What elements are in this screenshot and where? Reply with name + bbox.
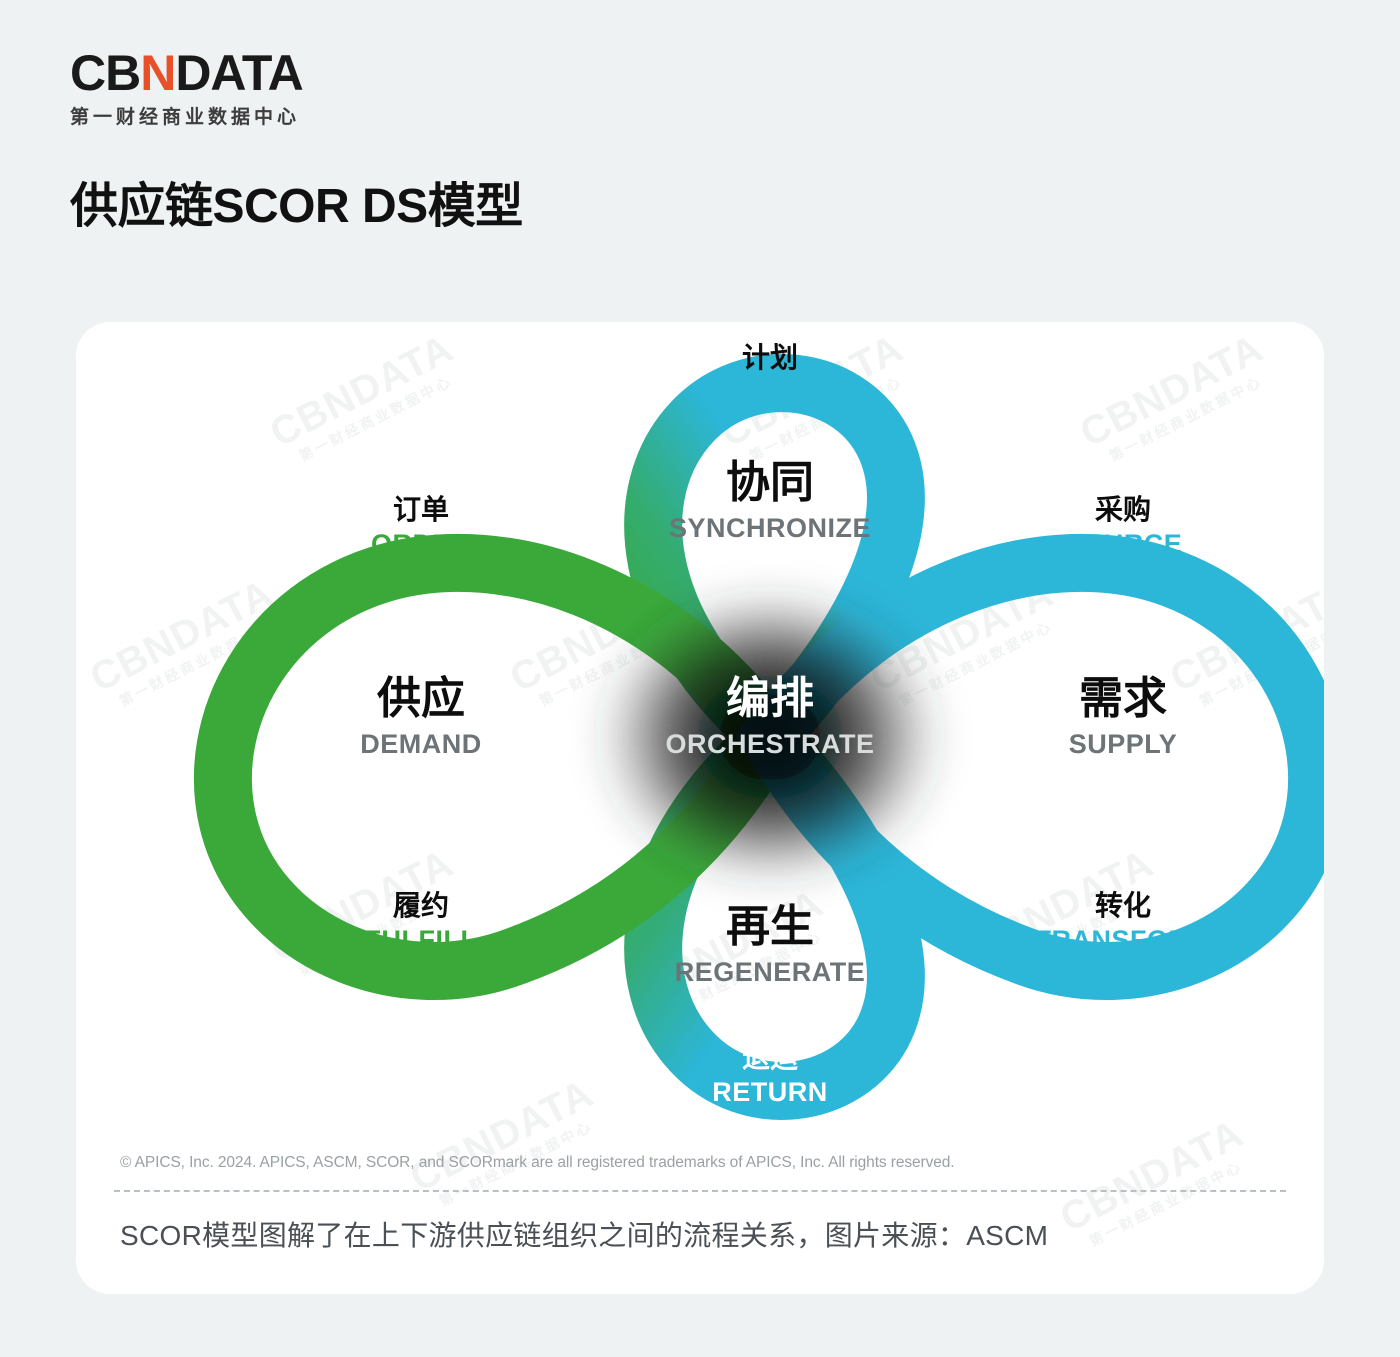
scor-loops-svg <box>76 322 1324 1152</box>
page-root: CBNDATA 第一财经商业数据中心 供应链SCOR DS模型 CBNDATA第… <box>0 0 1400 1357</box>
scor-ds-diagram: 计划 PLAN 订单 ORDER 采购 SOURCE 协同 SYNCHRONIZ… <box>76 322 1324 1152</box>
figure-caption: SCOR模型图解了在上下游供应链组织之间的流程关系，图片来源：ASCM <box>120 1214 1280 1254</box>
page-title: 供应链SCOR DS模型 <box>70 178 523 236</box>
footer-divider <box>114 1190 1286 1192</box>
center-vignette <box>585 577 955 897</box>
logo-text-accent: N <box>140 48 175 98</box>
logo: CBNDATA <box>70 48 770 98</box>
logo-text-post: DATA <box>175 48 302 98</box>
brand-header: CBNDATA 第一财经商业数据中心 <box>70 48 770 127</box>
copyright-text: © APICS, Inc. 2024. APICS, ASCM, SCOR, a… <box>120 1154 954 1172</box>
logo-wordmark: CBNDATA <box>70 48 303 98</box>
logo-text-pre: CB <box>70 48 140 98</box>
logo-subtitle: 第一财经商业数据中心 <box>70 108 770 127</box>
diagram-card: CBNDATA第一财经商业数据中心 CBNDATA第一财经商业数据中心 CBND… <box>76 322 1324 1294</box>
